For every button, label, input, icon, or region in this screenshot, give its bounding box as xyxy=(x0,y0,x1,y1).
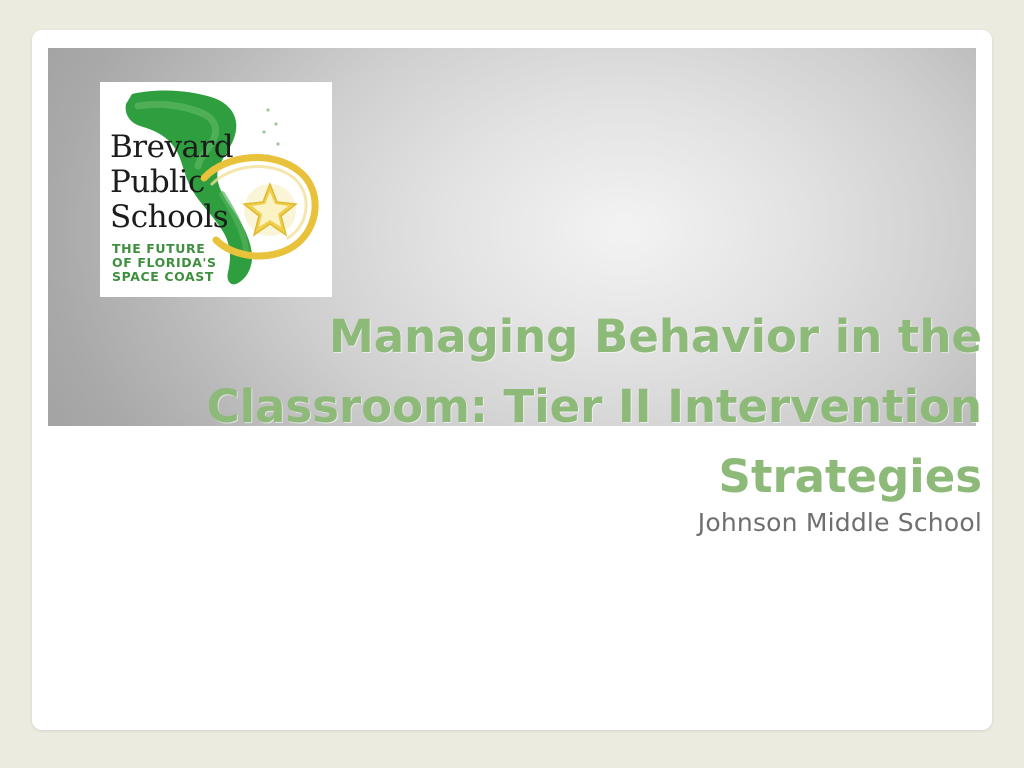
star-swoosh-icon xyxy=(196,144,328,274)
page-title: Managing Behavior in the Classroom: Tier… xyxy=(92,302,982,512)
brevard-public-schools-logo: Brevard Public Schools THE FUTURE OF FLO… xyxy=(100,82,332,297)
page-subtitle: Johnson Middle School xyxy=(92,508,982,537)
slide: Brevard Public Schools THE FUTURE OF FLO… xyxy=(32,30,992,730)
